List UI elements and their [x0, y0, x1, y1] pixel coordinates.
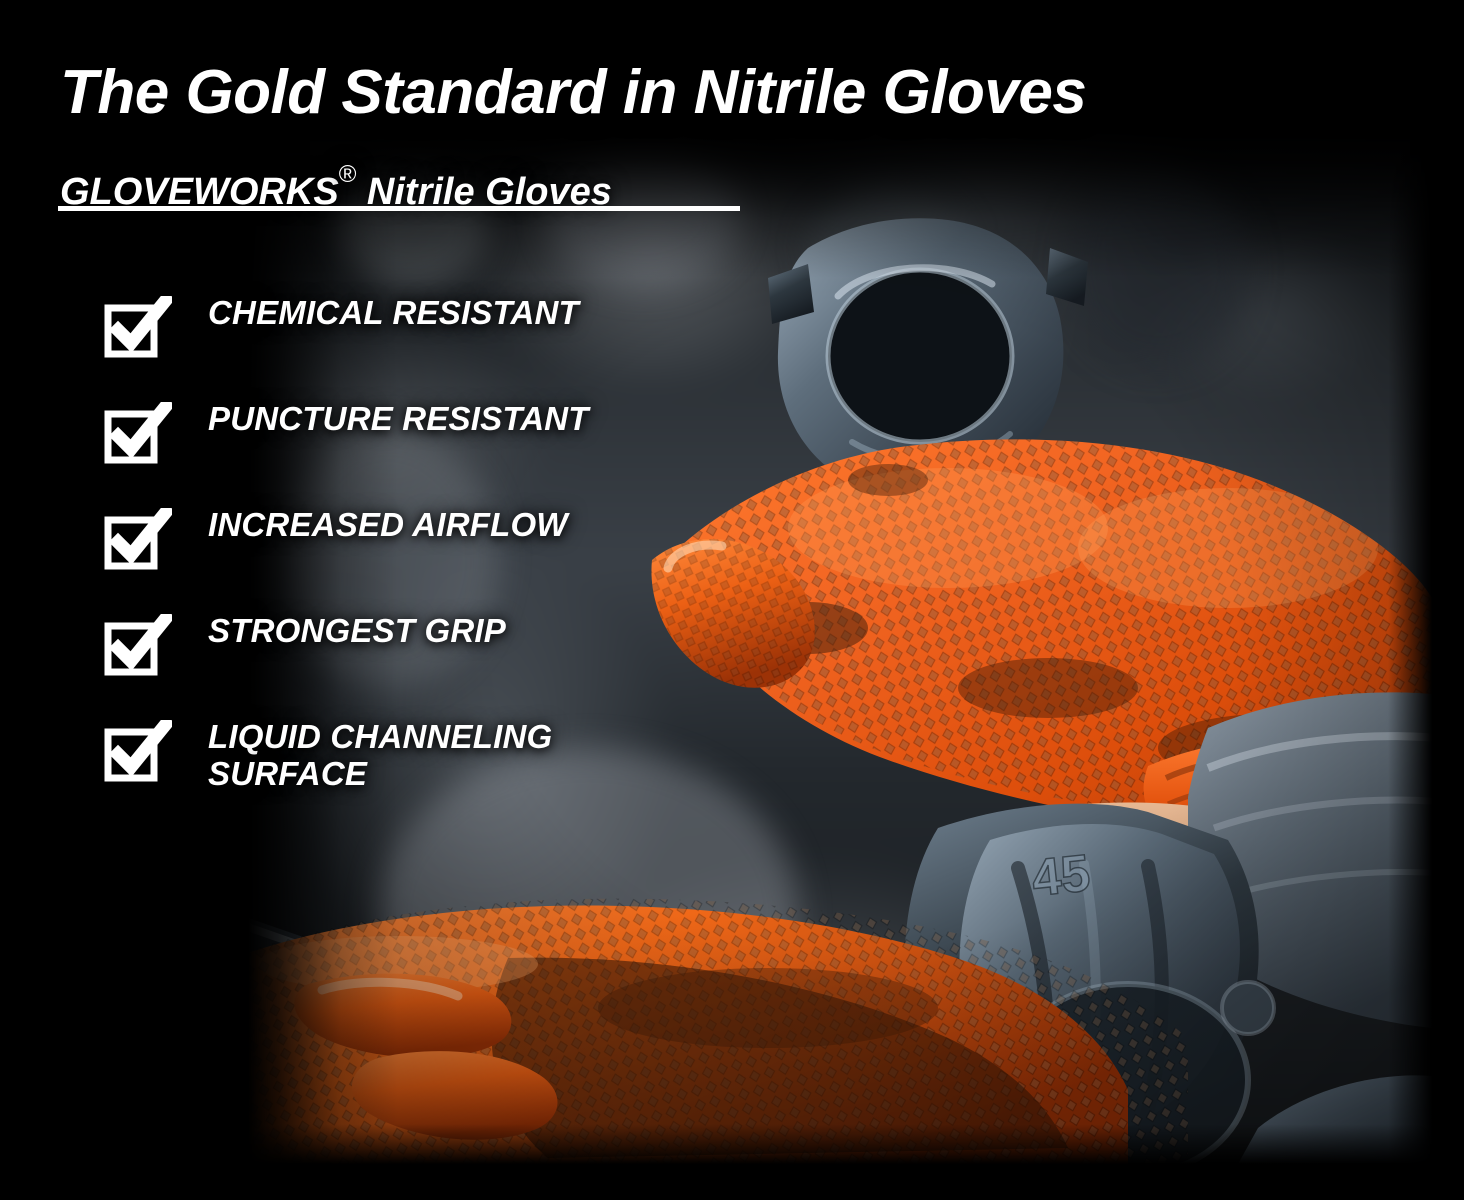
photo-fade-bottom	[248, 1124, 1432, 1164]
list-item-label: CHEMICAL RESISTANT	[208, 294, 708, 331]
list-item-label: STRONGEST GRIP	[208, 612, 708, 649]
checked-checkbox-icon	[104, 614, 172, 676]
list-item-label: LIQUID CHANNELING SURFACE	[208, 718, 638, 792]
checked-checkbox-icon	[104, 402, 172, 464]
list-item-label: INCREASED AIRFLOW	[208, 506, 708, 543]
checked-checkbox-icon	[104, 720, 172, 782]
feature-list: CHEMICAL RESISTANT PUNCTURE RESISTANT IN…	[104, 292, 724, 836]
list-item: INCREASED AIRFLOW	[104, 504, 724, 610]
photo-fade-right	[1388, 128, 1432, 1164]
checked-checkbox-icon	[104, 508, 172, 570]
promo-banner: 45	[0, 0, 1464, 1200]
checked-checkbox-icon	[104, 296, 172, 358]
list-item: STRONGEST GRIP	[104, 610, 724, 716]
list-item: PUNCTURE RESISTANT	[104, 398, 724, 504]
list-item: CHEMICAL RESISTANT	[104, 292, 724, 398]
registered-trademark-icon: ®	[339, 161, 357, 188]
list-item-label: PUNCTURE RESISTANT	[208, 400, 708, 437]
list-item: LIQUID CHANNELING SURFACE	[104, 716, 724, 836]
banner-headline: The Gold Standard in Nitrile Gloves	[60, 58, 1420, 128]
subtitle-underline	[58, 206, 740, 211]
